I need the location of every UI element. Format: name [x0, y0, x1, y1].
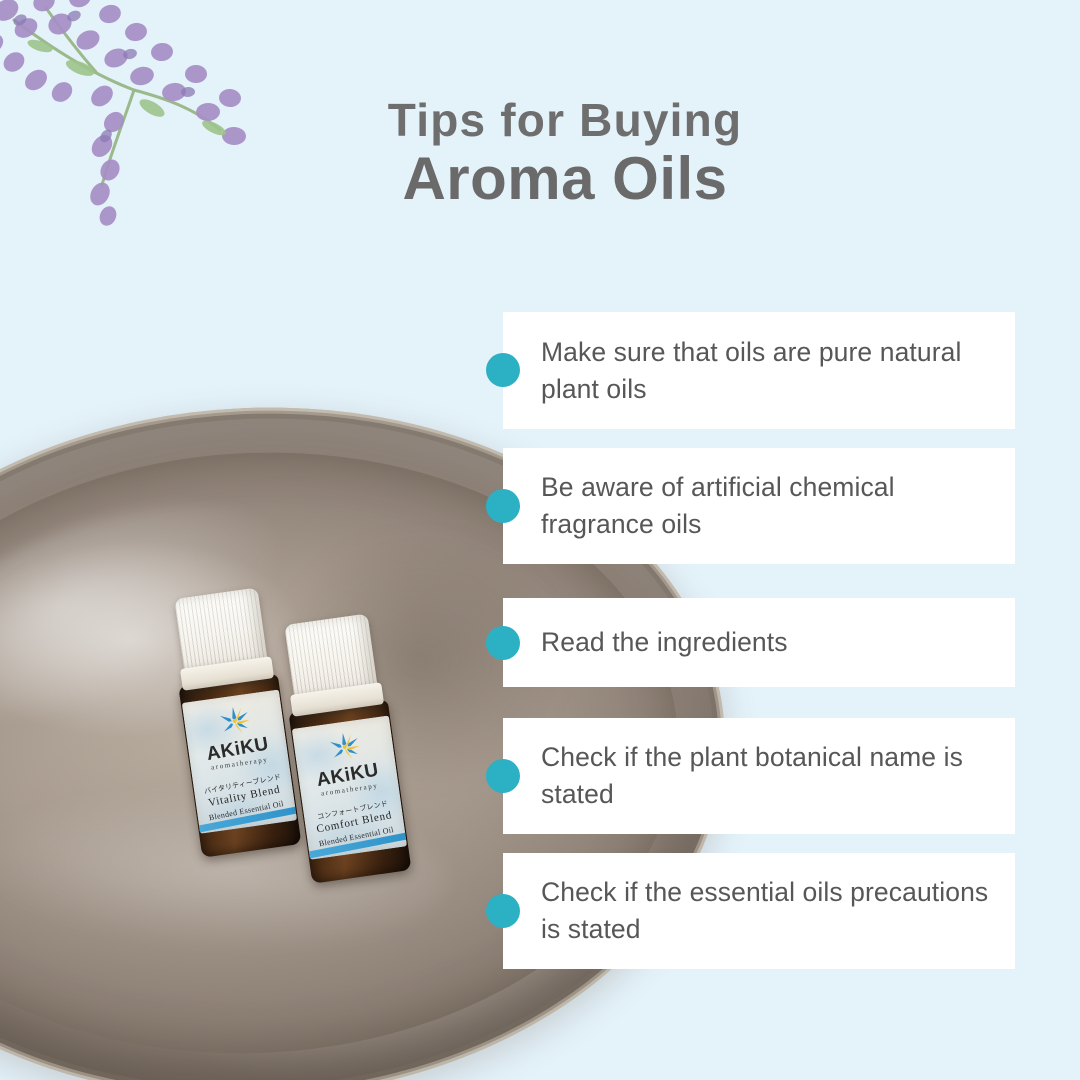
tip-bullet-3 — [486, 626, 520, 660]
tip-bullet-1 — [486, 353, 520, 387]
tip-bullet-4 — [486, 759, 520, 793]
header-block: Tips for Buying Aroma Oils — [330, 96, 800, 212]
tip-text-4: Check if the plant botanical name is sta… — [541, 739, 997, 812]
tip-text-2: Be aware of artificial chemical fragranc… — [541, 469, 997, 542]
tip-text-3: Read the ingredients — [541, 624, 788, 661]
tip-bullet-5 — [486, 894, 520, 928]
infographic-canvas: AKiKU aromatherapy バイタリティーブレンド Vitality … — [0, 0, 1080, 1080]
starburst-logo-icon — [325, 729, 365, 766]
tip-card-2[interactable]: Be aware of artificial chemical fragranc… — [503, 448, 1015, 564]
bottle-label: AKiKU aromatherapy バイタリティーブレンド Vitality … — [182, 689, 297, 833]
title-eyebrow: Tips for Buying — [330, 96, 800, 145]
tip-card-5[interactable]: Check if the essential oils precautions … — [503, 853, 1015, 969]
bottle-label: AKiKU aromatherapy コンフォートブレンド Comfort Bl… — [292, 715, 407, 859]
tip-text-5: Check if the essential oils precautions … — [541, 874, 997, 947]
starburst-logo-icon — [215, 703, 255, 740]
tip-text-1: Make sure that oils are pure natural pla… — [541, 334, 997, 407]
lavender-sprig-decoration — [0, 0, 284, 250]
tip-bullet-2 — [486, 489, 520, 523]
tip-card-1[interactable]: Make sure that oils are pure natural pla… — [503, 312, 1015, 429]
tip-card-4[interactable]: Check if the plant botanical name is sta… — [503, 718, 1015, 834]
tip-card-3[interactable]: Read the ingredients — [503, 598, 1015, 687]
page-title: Aroma Oils — [330, 147, 800, 212]
